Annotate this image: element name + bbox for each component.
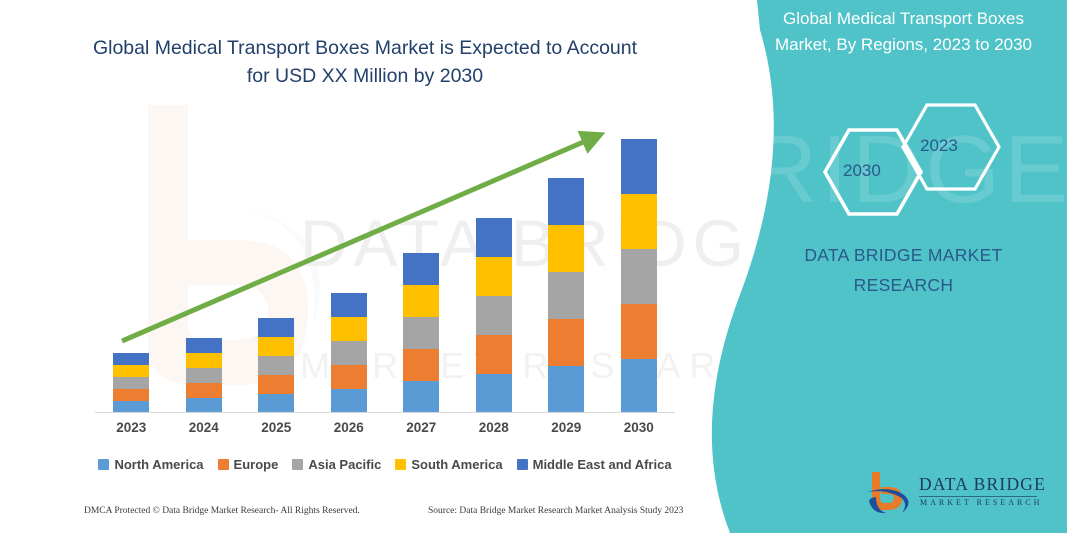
bar-2026 [331, 293, 367, 413]
bar-segment [476, 374, 512, 413]
legend-item-middle-east-and-africa[interactable]: Middle East and Africa [517, 457, 672, 472]
bar-segment [403, 381, 439, 413]
side-panel-brand-line1: DATA BRIDGE MARKET [756, 240, 1051, 270]
bar-segment [403, 349, 439, 381]
bar-2023 [113, 353, 149, 413]
bar-segment [258, 356, 294, 375]
bar-segment [548, 225, 584, 272]
bar-segment [403, 253, 439, 285]
x-axis-label-2025: 2025 [240, 420, 312, 435]
legend-swatch-icon [218, 459, 229, 470]
side-panel-title-line1: Global Medical Transport Boxes [756, 6, 1051, 32]
bar-segment [186, 368, 222, 383]
bar-segment [476, 296, 512, 335]
hexagon-label-2023: 2023 [920, 136, 958, 156]
logo-mark-b-icon [862, 470, 914, 516]
bar-segment [186, 383, 222, 398]
bar-segment [331, 389, 367, 413]
data-bridge-logo: DATA BRIDGE MARKET RESEARCH [862, 470, 1042, 518]
legend-item-europe[interactable]: Europe [218, 457, 279, 472]
bar-segment [258, 375, 294, 394]
hexagon-shapes-icon [700, 100, 1067, 240]
bar-segment [186, 353, 222, 368]
hexagon-group: 2023 2030 [700, 100, 1067, 240]
legend-item-north-america[interactable]: North America [98, 457, 203, 472]
x-axis-label-2027: 2027 [385, 420, 457, 435]
bar-segment [621, 194, 657, 249]
bar-2030 [621, 139, 657, 413]
bar-segment [621, 249, 657, 304]
bar-2027 [403, 253, 439, 413]
legend-swatch-icon [395, 459, 406, 470]
legend-swatch-icon [98, 459, 109, 470]
x-axis-label-2023: 2023 [95, 420, 167, 435]
bar-2025 [258, 318, 294, 413]
footer-source: Source: Data Bridge Market Research Mark… [428, 506, 683, 516]
footer-copyright: DMCA Protected © Data Bridge Market Rese… [84, 506, 360, 516]
bar-segment [403, 317, 439, 349]
hexagon-label-2030: 2030 [843, 161, 881, 181]
legend-item-asia-pacific[interactable]: Asia Pacific [292, 457, 381, 472]
bar-segment [476, 218, 512, 257]
x-axis-label-2026: 2026 [313, 420, 385, 435]
legend-label: South America [411, 457, 502, 472]
side-panel-brand-line2: RESEARCH [756, 270, 1051, 300]
bar-segment [621, 359, 657, 413]
bar-segment [331, 293, 367, 317]
bar-segment [113, 365, 149, 377]
side-panel-title-line2: Market, By Regions, 2023 to 2030 [756, 32, 1051, 58]
bar-segment [476, 257, 512, 296]
legend-swatch-icon [292, 459, 303, 470]
legend-label: Europe [234, 457, 279, 472]
bar-segment [258, 337, 294, 356]
bar-segment [331, 341, 367, 365]
x-axis-labels: 20232024202520262027202820292030 [95, 420, 675, 444]
side-panel-title: Global Medical Transport Boxes Market, B… [756, 6, 1051, 58]
bar-segment [258, 394, 294, 413]
x-axis-label-2028: 2028 [458, 420, 530, 435]
chart-title: Global Medical Transport Boxes Market is… [55, 34, 675, 90]
chart-title-line1: Global Medical Transport Boxes Market is… [55, 34, 675, 62]
bar-segment [331, 317, 367, 341]
bar-plot-area [95, 100, 675, 413]
bar-segment [548, 319, 584, 366]
logo-divider [919, 496, 1037, 497]
x-axis-label-2024: 2024 [168, 420, 240, 435]
bar-segment [621, 139, 657, 194]
bar-2028 [476, 218, 512, 413]
legend-item-south-america[interactable]: South America [395, 457, 502, 472]
legend-label: North America [114, 457, 203, 472]
bar-segment [548, 272, 584, 319]
bar-2029 [548, 178, 584, 413]
bar-segment [403, 285, 439, 317]
bar-segment [476, 335, 512, 374]
bar-segment [186, 338, 222, 353]
bar-segment [258, 318, 294, 337]
bar-segment [113, 353, 149, 365]
side-panel-brand: DATA BRIDGE MARKET RESEARCH [756, 240, 1051, 300]
bar-2024 [186, 338, 222, 413]
bar-segment [548, 178, 584, 225]
x-axis-line [95, 412, 675, 413]
legend-label: Middle East and Africa [533, 457, 672, 472]
footer: DMCA Protected © Data Bridge Market Rese… [0, 506, 740, 526]
side-panel: BRIDGE Global Medical Transport Boxes Ma… [700, 0, 1067, 533]
bar-segment [621, 304, 657, 359]
bar-segment [113, 389, 149, 401]
bar-segment [113, 377, 149, 389]
bar-segment [331, 365, 367, 389]
bar-segment [548, 366, 584, 413]
chart-legend: North AmericaEuropeAsia PacificSouth Ame… [95, 453, 675, 475]
logo-tagline: MARKET RESEARCH [920, 498, 1042, 507]
x-axis-label-2029: 2029 [530, 420, 602, 435]
logo-name: DATA BRIDGE [919, 474, 1046, 495]
chart-panel: DATA BRIDGE MARKET RESEARCH Global Medic… [0, 0, 740, 533]
legend-label: Asia Pacific [308, 457, 381, 472]
legend-swatch-icon [517, 459, 528, 470]
bar-segment [186, 398, 222, 413]
chart-title-line2: for USD XX Million by 2030 [55, 62, 675, 90]
screenshot-root: DATA BRIDGE MARKET RESEARCH Global Medic… [0, 0, 1067, 533]
x-axis-label-2030: 2030 [603, 420, 675, 435]
